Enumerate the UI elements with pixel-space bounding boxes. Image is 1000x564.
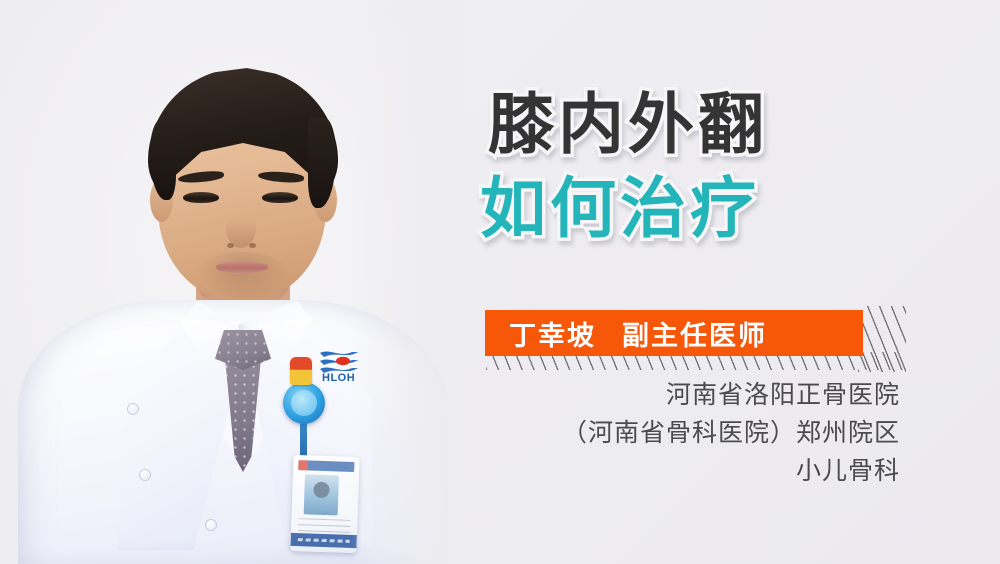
- doctor-name-banner: 丁幸坡 副主任医师: [485, 310, 863, 356]
- chin-shadow: [196, 252, 290, 300]
- title-line-1: 膝内外翻: [470, 82, 910, 166]
- coat-button: [206, 520, 216, 530]
- badge-reel-inner: [291, 390, 317, 416]
- poster-title: 膝内外翻 如何治疗: [470, 82, 910, 250]
- nostril-right: [249, 243, 256, 248]
- doctor-name: 丁幸坡: [509, 314, 596, 353]
- doctor-title: 副主任医师: [622, 314, 767, 353]
- portrait-edge-fade: [350, 0, 470, 564]
- eye-left: [183, 192, 219, 203]
- nose: [226, 208, 256, 248]
- id-badge-footer: [291, 533, 357, 548]
- affiliation-line-1: 河南省洛阳正骨医院: [470, 376, 900, 414]
- doctor-portrait: HLOH: [0, 0, 470, 564]
- id-badge-photo: [304, 474, 339, 515]
- affiliation-line-3: 小儿骨科: [470, 452, 900, 490]
- badge-lanyard: [300, 420, 307, 456]
- title-line-2: 如何治疗: [470, 166, 910, 250]
- id-badge-header: [298, 460, 354, 472]
- poster-text-content: 膝内外翻 如何治疗 丁幸坡 副主任医师 河南省洛阳正骨医院 （河南省骨科医院）郑…: [470, 0, 1000, 564]
- affiliation-block: 河南省洛阳正骨医院 （河南省骨科医院）郑州院区 小儿骨科: [470, 376, 900, 490]
- video-thumbnail-poster: HLOH 膝内外翻 如何治疗 丁幸坡 副主任医师 河南省洛阳正骨医院: [0, 0, 1000, 564]
- flag-pin-icon: [290, 357, 312, 385]
- nostril-left: [227, 243, 234, 248]
- eye-right: [262, 192, 298, 203]
- coat-button: [140, 470, 150, 480]
- doctor-name-banner-inner: 丁幸坡 副主任医师: [485, 314, 767, 353]
- mouth: [216, 262, 268, 273]
- affiliation-line-2: （河南省骨科医院）郑州院区: [470, 414, 900, 452]
- coat-button: [128, 404, 138, 414]
